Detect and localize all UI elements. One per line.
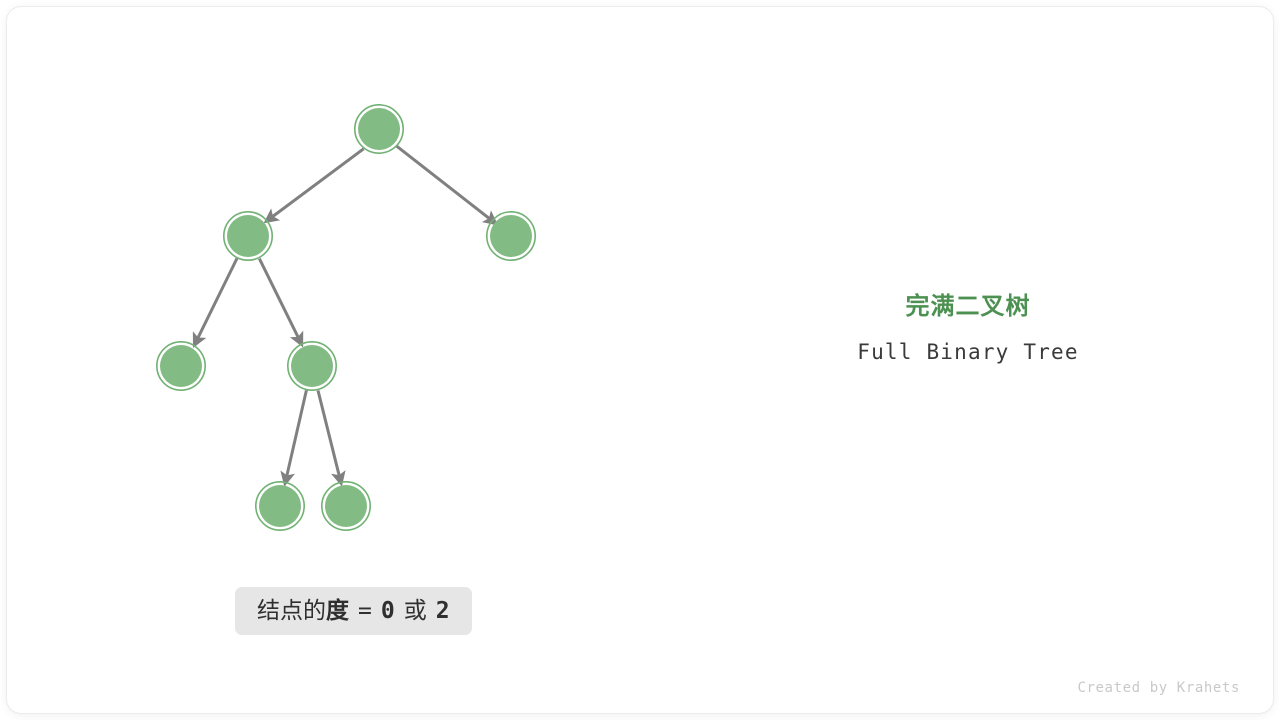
diagram-canvas: 完满二叉树 Full Binary Tree 结点的 度 = 0 或 2 Cre… (0, 0, 1280, 720)
formula-equals: = (358, 600, 372, 623)
edge-n2-n5 (259, 259, 301, 345)
diagram-title-en: Full Binary Tree (768, 338, 1168, 366)
tree-node-root[interactable] (355, 105, 403, 153)
formula-part-degree: 度 (326, 600, 349, 623)
edge-n1-n2 (266, 149, 364, 222)
tree-node-left-right[interactable] (288, 342, 336, 390)
formula-or: 或 (404, 600, 427, 623)
tree-edges (194, 146, 496, 484)
title-block: 完满二叉树 Full Binary Tree (768, 292, 1168, 366)
formula-value-zero: 0 (381, 600, 395, 623)
formula-part-1: 结点的 (257, 600, 326, 623)
tree-node-right[interactable] (487, 212, 535, 260)
diagram-title-cn: 完满二叉树 (768, 292, 1168, 322)
edge-n5-n7 (318, 391, 341, 484)
tree-node-leaf-right[interactable] (322, 482, 370, 530)
edge-n2-n4 (194, 258, 237, 345)
edge-n1-n3 (396, 146, 495, 224)
formula-value-two: 2 (436, 600, 450, 623)
tree-node-left-left[interactable] (157, 342, 205, 390)
tree-node-left[interactable] (224, 212, 272, 260)
tree-nodes (157, 105, 535, 530)
credit-text: Created by Krahets (1077, 680, 1240, 696)
edge-n5-n6 (285, 390, 306, 484)
degree-formula-pill: 结点的 度 = 0 或 2 (235, 587, 472, 635)
tree-node-leaf-left[interactable] (256, 482, 304, 530)
